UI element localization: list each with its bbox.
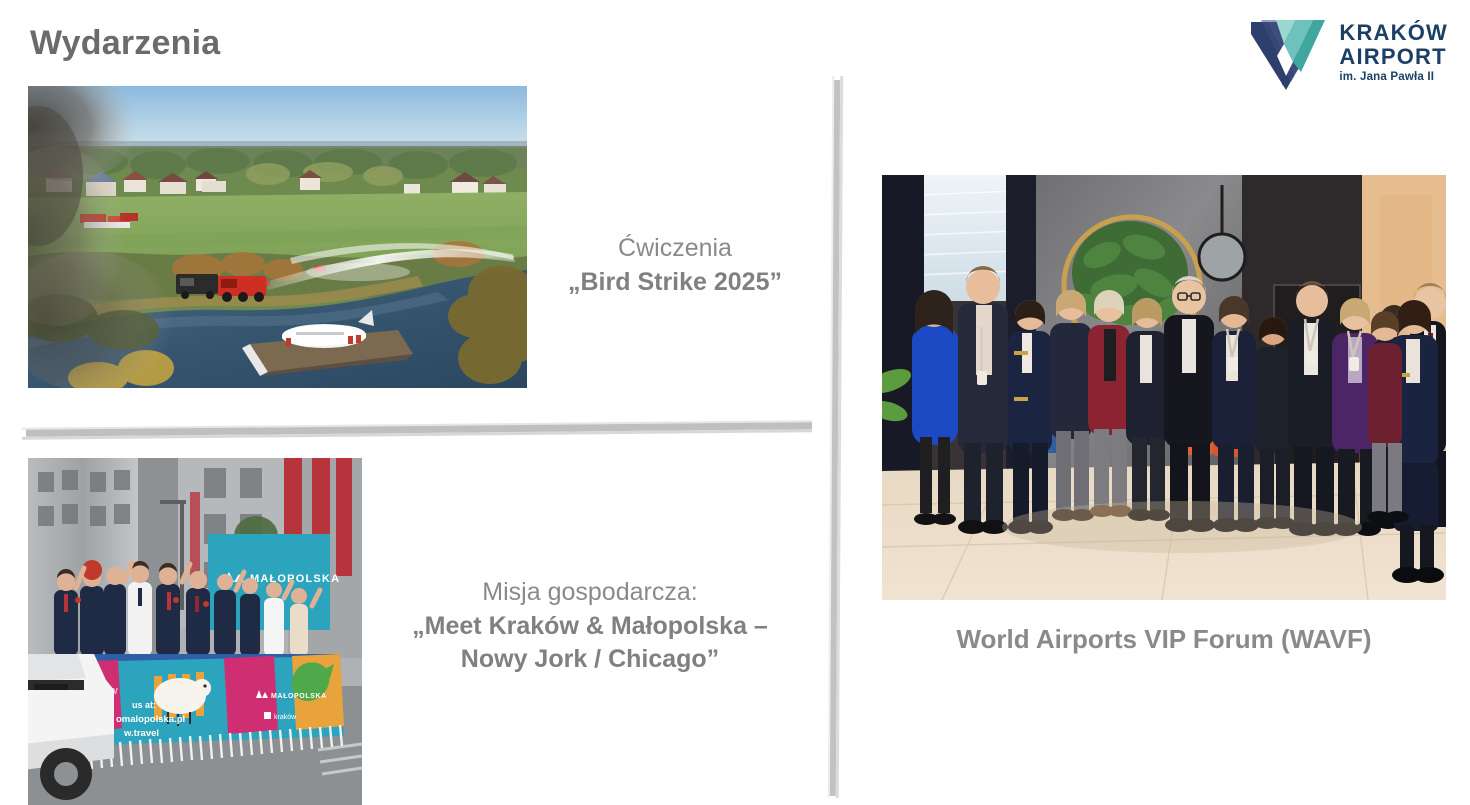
- photo-bird-strike-exercise-graphic: [28, 86, 527, 388]
- krakow-airport-logo: KRAKÓW AIRPORT im. Jana Pawła II: [1243, 16, 1448, 90]
- caption-bird-strike-line2: „Bird Strike 2025”: [545, 266, 805, 300]
- svg-text:w.travel: w.travel: [123, 728, 159, 739]
- caption-bird-strike: Ćwiczenia „Bird Strike 2025”: [545, 232, 805, 299]
- caption-wavf: World Airports VIP Forum (WAVF): [882, 622, 1446, 657]
- photo-bird-strike-exercise: [28, 86, 527, 388]
- divider-vertical: [828, 76, 843, 798]
- logo-wordmark: KRAKÓW AIRPORT im. Jana Pawła II: [1339, 22, 1448, 84]
- logo-line-patron: im. Jana Pawła II: [1339, 72, 1448, 84]
- svg-text:kraków: kraków: [274, 714, 297, 721]
- svg-text:omalopolska.pl: omalopolska.pl: [116, 714, 185, 725]
- logo-line-airport: AIRPORT: [1339, 46, 1448, 68]
- photo-economic-mission-parade-graphic: MAŁOPOLSKA: [28, 458, 362, 805]
- logo-line-krakow: KRAKÓW: [1339, 22, 1448, 44]
- caption-economic-mission: Misja gospodarcza: „Meet Kraków & Małopo…: [380, 576, 800, 677]
- caption-economic-mission-line3: Nowy Jork / Chicago”: [380, 643, 800, 677]
- photo-economic-mission-parade: MAŁOPOLSKA: [28, 458, 362, 805]
- page-title: Wydarzenia: [30, 24, 220, 63]
- krakow-airport-logo-mark: [1243, 16, 1329, 90]
- photo-wavf-group: [882, 175, 1446, 600]
- svg-text:MAŁOPOLSKA: MAŁOPOLSKA: [250, 573, 340, 585]
- svg-text:us at:: us at:: [132, 700, 156, 710]
- svg-text:MAŁOPOLSKA: MAŁOPOLSKA: [271, 693, 327, 700]
- photo-wavf-group-graphic: [882, 175, 1446, 600]
- caption-bird-strike-line1: Ćwiczenia: [545, 232, 805, 266]
- caption-economic-mission-line1: Misja gospodarcza:: [380, 576, 800, 610]
- slide-canvas: Wydarzenia KRAKÓW AIRPORT im. Jana Pawła…: [0, 0, 1470, 805]
- caption-economic-mission-line2: „Meet Kraków & Małopolska –: [380, 610, 800, 644]
- divider-horizontal: [22, 420, 812, 440]
